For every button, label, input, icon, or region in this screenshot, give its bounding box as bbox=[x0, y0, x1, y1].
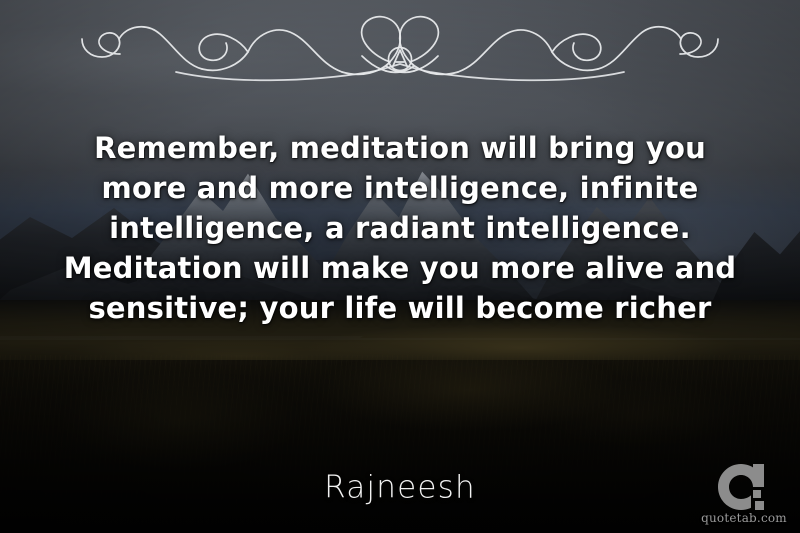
quote-author: Rajneesh bbox=[0, 473, 800, 504]
watermark[interactable]: quotetab.com bbox=[700, 462, 788, 525]
watermark-label: quotetab.com bbox=[700, 511, 788, 525]
quote-image-card: Remember, meditation will bring you more… bbox=[0, 0, 800, 533]
quotetab-logo-icon bbox=[717, 462, 771, 510]
quote-text: Remember, meditation will bring you more… bbox=[58, 128, 742, 328]
scroll-flourish-icon bbox=[80, 12, 720, 84]
